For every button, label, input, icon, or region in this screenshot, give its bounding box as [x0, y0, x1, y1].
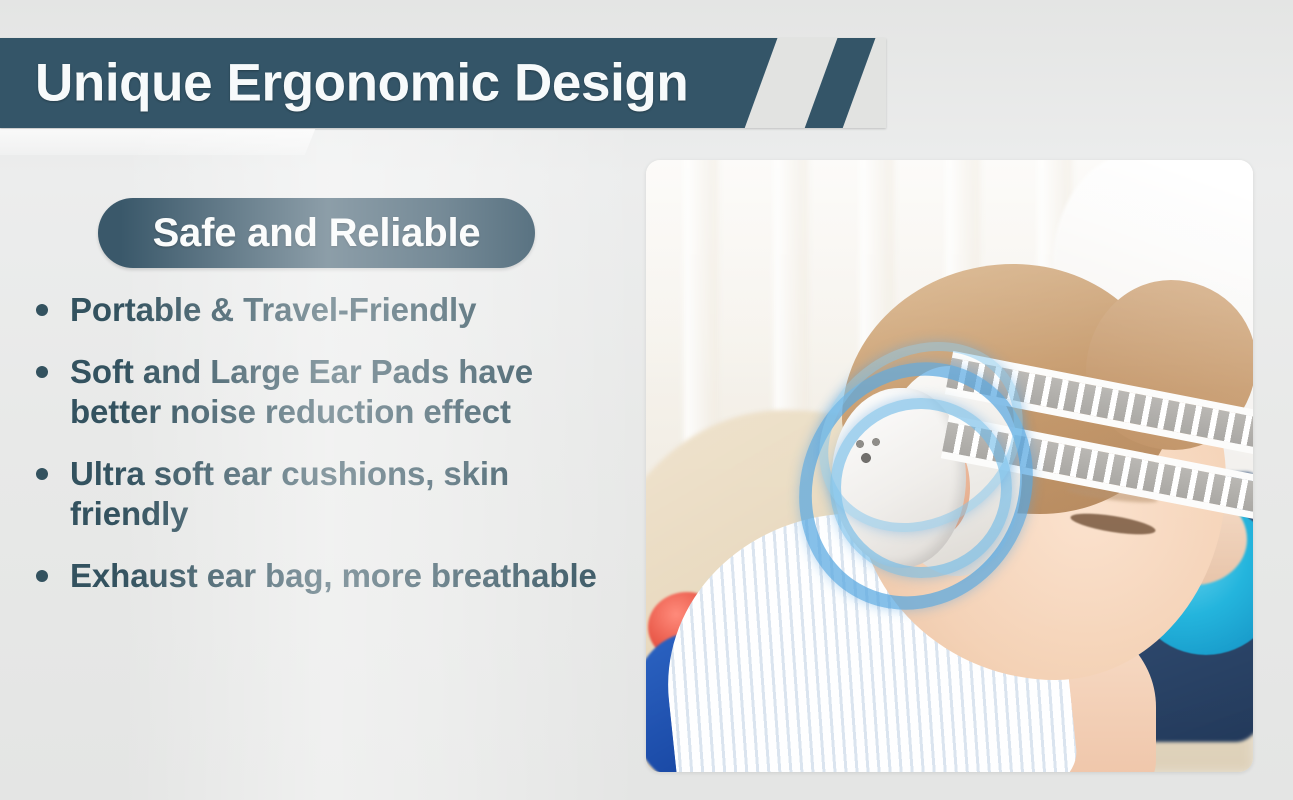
status-badge-label: Safe and Reliable: [153, 211, 481, 256]
banner-diagonal-stripe-2: [835, 38, 886, 128]
features-column: Safe and Reliable Portable & Travel-Frie…: [0, 190, 640, 790]
status-badge: Safe and Reliable: [98, 198, 535, 268]
marketing-banner-page: Unique Ergonomic Design Safe and Reliabl…: [0, 0, 1293, 800]
banner-underline-accent: [0, 129, 315, 155]
list-item: Portable & Travel-Friendly: [0, 290, 630, 330]
list-item: Ultra soft ear cushions, skin friendly: [0, 454, 630, 534]
list-item: Soft and Large Ear Pads have better nois…: [0, 352, 630, 432]
bullet-dot-icon: [36, 570, 48, 582]
header-banner: Unique Ergonomic Design: [0, 38, 886, 128]
bullet-dot-icon: [36, 304, 48, 316]
bullet-dot-icon: [36, 468, 48, 480]
product-photo: [646, 160, 1253, 772]
list-item-label: Soft and Large Ear Pads have better nois…: [70, 353, 533, 430]
bullet-dot-icon: [36, 366, 48, 378]
feature-list: Portable & Travel-Friendly Soft and Larg…: [0, 290, 630, 618]
list-item-label: Portable & Travel-Friendly: [70, 291, 476, 328]
list-item-label: Exhaust ear bag, more breathable: [70, 557, 597, 594]
list-item: Exhaust ear bag, more breathable: [0, 556, 630, 596]
banner-diagonal-stripe-1: [737, 38, 842, 128]
page-title: Unique Ergonomic Design: [35, 53, 688, 114]
list-item-label: Ultra soft ear cushions, skin friendly: [70, 455, 509, 532]
